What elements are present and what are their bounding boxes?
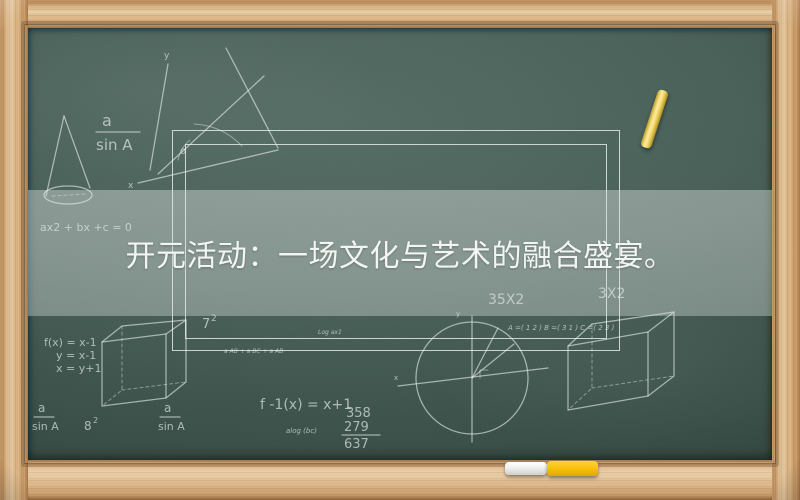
wooden-frame-ledge [0,460,800,500]
chalkboard-banner-scene: a sin A ax2 + bx +c = 0 y x o f(x) = x-1… [0,0,800,500]
banner-title: 开元活动：一场文化与艺术的融合盛宴。 [28,190,772,316]
ledge-yellow-chalk[interactable] [547,461,598,476]
wooden-frame-right [772,0,800,500]
ledge-white-chalk[interactable] [505,462,547,475]
